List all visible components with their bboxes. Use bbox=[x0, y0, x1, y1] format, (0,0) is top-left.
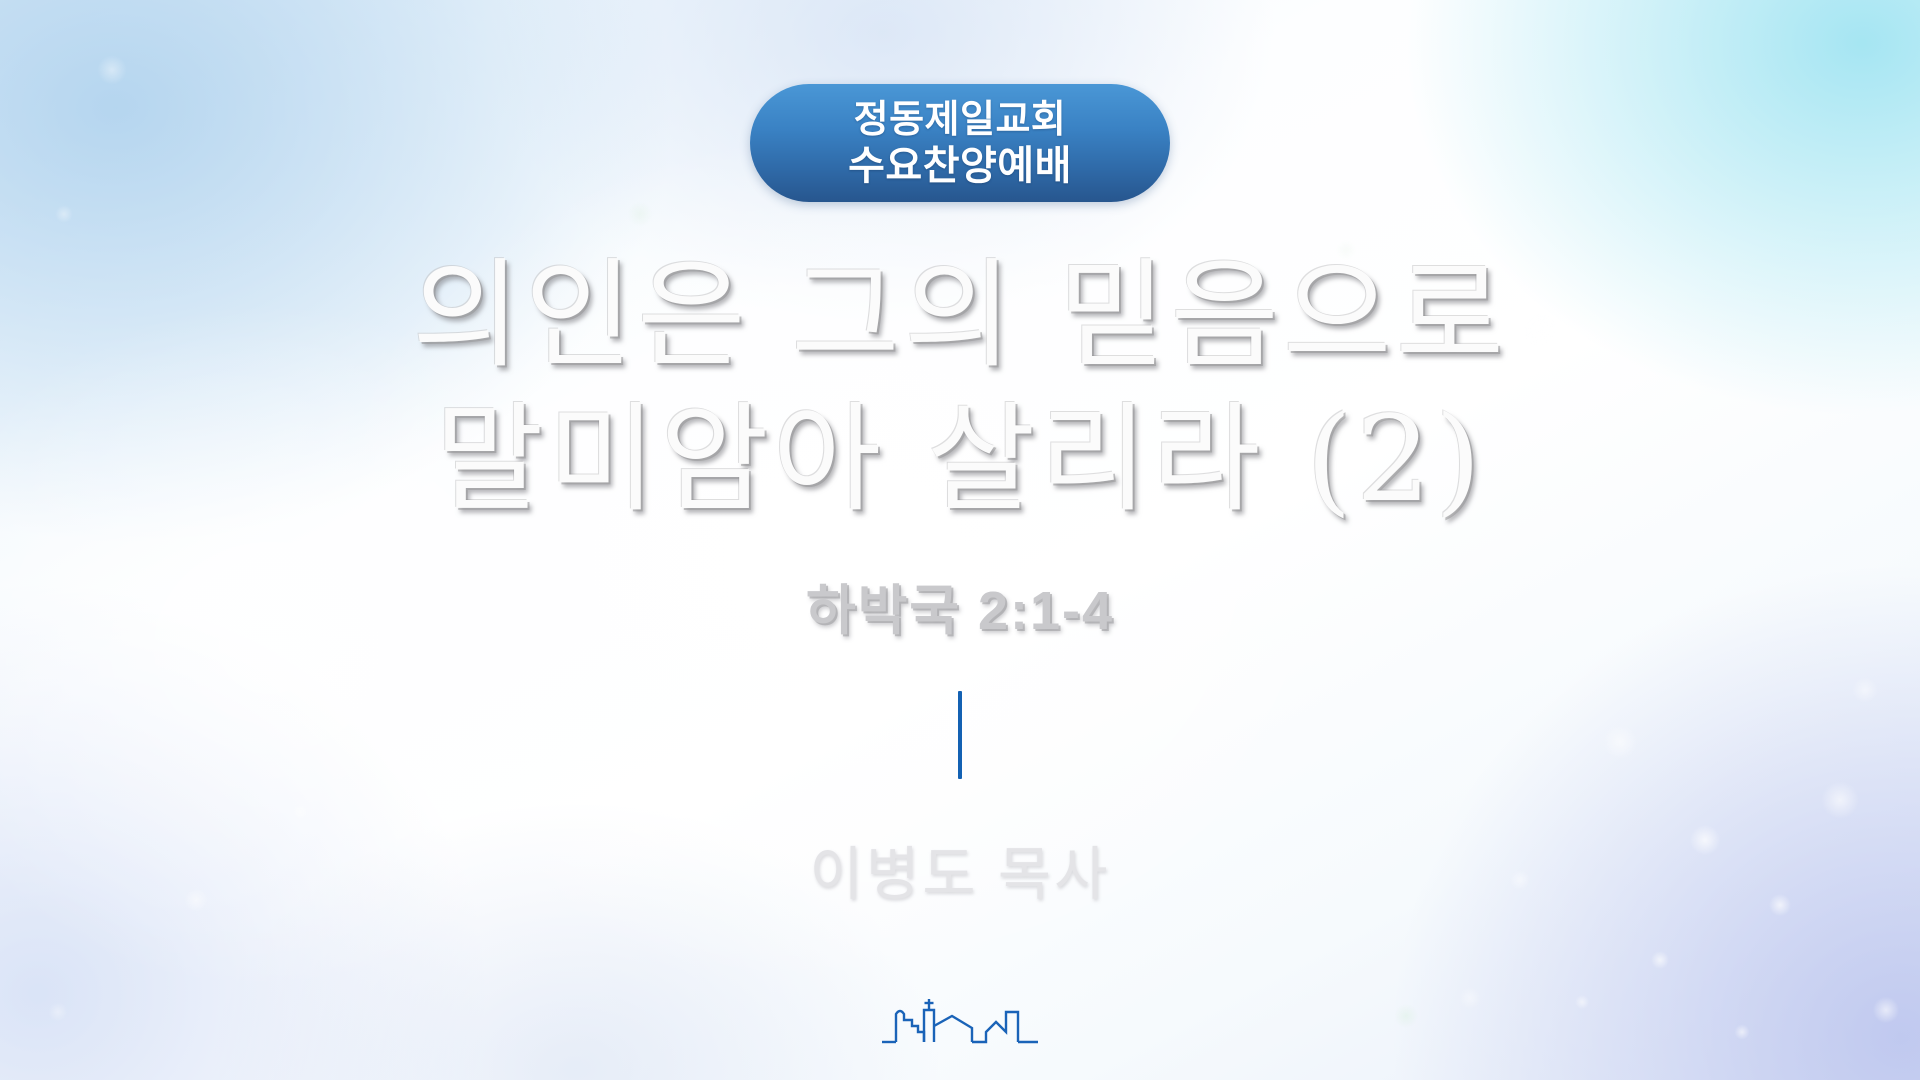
speaker-name: 이병도 목사 bbox=[810, 827, 1111, 911]
vertical-divider bbox=[958, 691, 962, 779]
slide-content: 정동제일교회 수요찬양예배 의인은 그의 믿음으로 말미암아 살리라 (2) 하… bbox=[0, 0, 1920, 1080]
slide-canvas: 정동제일교회 수요찬양예배 의인은 그의 믿음으로 말미암아 살리라 (2) 하… bbox=[0, 0, 1920, 1080]
sermon-title: 의인은 그의 믿음으로 말미암아 살리라 (2) bbox=[412, 244, 1508, 532]
service-name-label: 수요찬양예배 bbox=[848, 146, 1072, 186]
service-badge: 정동제일교회 수요찬양예배 bbox=[750, 84, 1170, 202]
sermon-title-line-2: 말미암아 살리라 (2) bbox=[412, 388, 1508, 532]
church-name-label: 정동제일교회 bbox=[854, 101, 1067, 139]
scripture-reference: 하박국 2:1-4 bbox=[806, 566, 1114, 645]
sermon-title-line-1: 의인은 그의 믿음으로 bbox=[412, 244, 1508, 388]
